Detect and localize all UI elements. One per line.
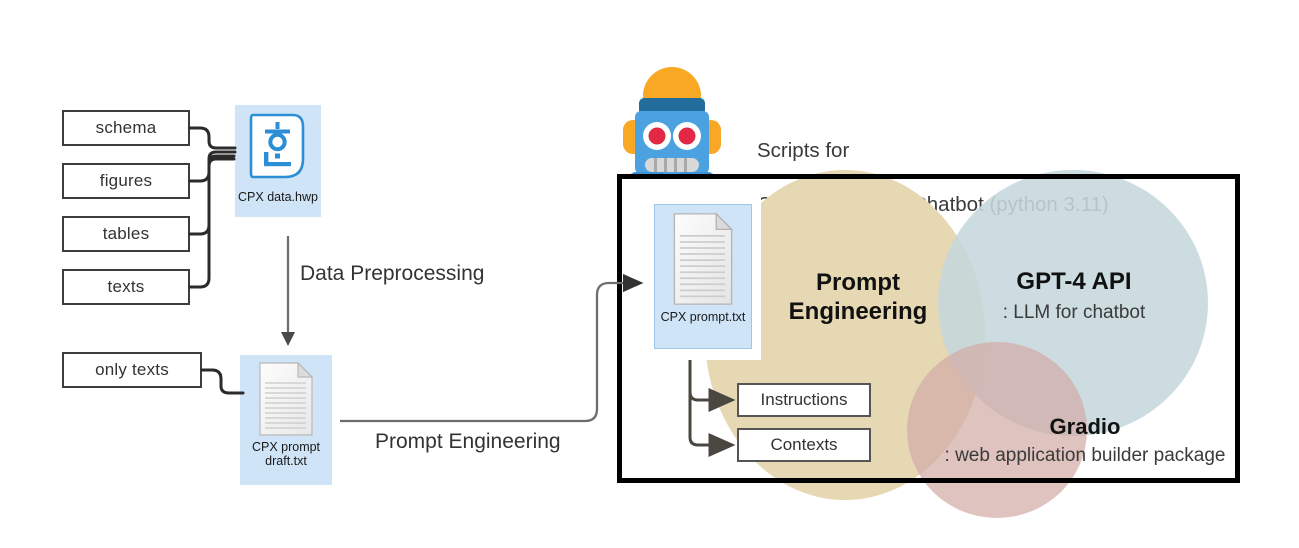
diagram-canvas: schema figures tables texts only texts C…: [0, 0, 1299, 548]
text-document-icon: [256, 361, 316, 437]
output-box-contexts: Contexts: [737, 428, 871, 462]
source-box-texts: texts: [62, 269, 190, 305]
label-prompt-engineering: Prompt Engineering: [375, 430, 561, 454]
file-caption-line1: CPX prompt: [252, 440, 320, 454]
scripts-caption-line1: Scripts for: [757, 137, 1109, 164]
source-label: texts: [108, 277, 145, 297]
file-caption: CPX prompt.txt: [661, 310, 746, 324]
source-box-tables: tables: [62, 216, 190, 252]
output-label: Instructions: [761, 390, 848, 410]
text-document-icon: [670, 211, 736, 307]
robot-icon: [607, 48, 737, 178]
file-tile-cpx-prompt-draft[interactable]: CPX prompt draft.txt: [240, 355, 332, 485]
source-label: only texts: [95, 360, 169, 380]
source-label: tables: [103, 224, 150, 244]
hwp-document-icon: [247, 111, 309, 187]
source-label: schema: [96, 118, 157, 138]
output-label: Contexts: [770, 435, 837, 455]
source-box-figures: figures: [62, 163, 190, 199]
file-caption: CPX data.hwp: [238, 190, 318, 204]
file-caption-line2: draft.txt: [265, 454, 307, 468]
source-label: figures: [100, 171, 152, 191]
source-box-schema: schema: [62, 110, 190, 146]
output-box-instructions: Instructions: [737, 383, 871, 417]
label-data-preprocessing: Data Preprocessing: [300, 262, 484, 286]
source-box-only-texts: only texts: [62, 352, 202, 388]
file-tile-cpx-data-hwp[interactable]: CPX data.hwp: [235, 105, 321, 217]
file-tile-cpx-prompt[interactable]: CPX prompt.txt: [654, 204, 752, 349]
